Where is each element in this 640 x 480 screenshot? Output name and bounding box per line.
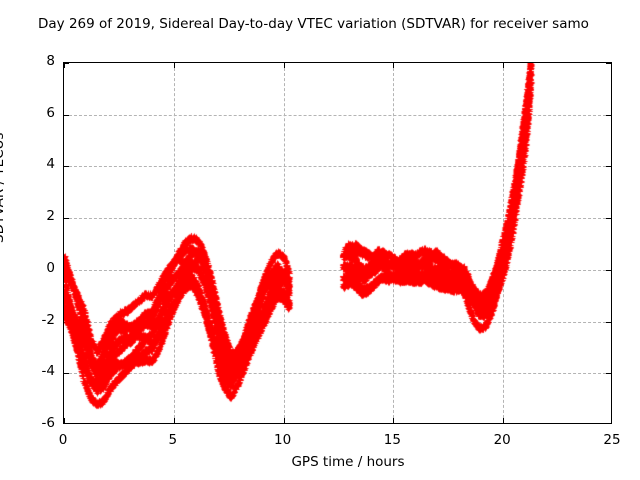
chart-title: Day 269 of 2019, Sidereal Day-to-day VTE… [38,16,589,32]
x-tick-label: 20 [482,434,522,448]
y-tick-label: 2 [0,210,55,224]
y-axis-label: SDTVAR / TECUs [0,133,6,243]
x-tick-label: 10 [263,434,303,448]
x-tick-label: 25 [592,434,632,448]
y-tick-label: 4 [0,158,55,172]
chart-figure: Day 269 of 2019, Sidereal Day-to-day VTE… [0,0,640,480]
y-tick-label: -6 [0,417,55,431]
x-axis-label-wrap: GPS time / hours [0,455,640,469]
y-tick-label: 8 [0,55,55,69]
x-tick-label: 15 [372,434,412,448]
x-tick-label: 0 [43,434,83,448]
y-tick-label: 0 [0,262,55,276]
scatter-data-layer [64,63,612,424]
y-tick-label: -4 [0,365,55,379]
x-axis-label: GPS time / hours [235,454,404,470]
y-tick-label: -2 [0,314,55,328]
x-tick-label: 5 [153,434,193,448]
plot-area [63,62,612,424]
y-tick-label: 6 [0,107,55,121]
